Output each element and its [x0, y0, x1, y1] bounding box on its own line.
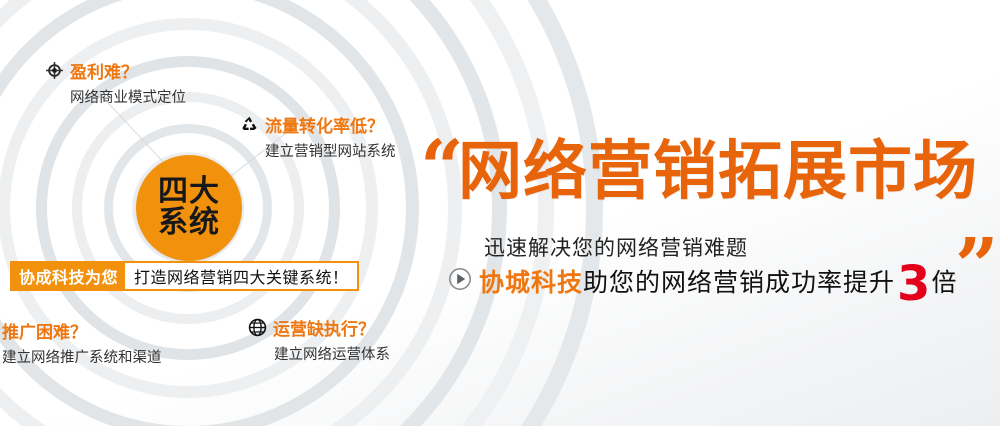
feature-title-traffic: 流量转化率低？	[265, 112, 384, 137]
center-circle-four-systems: 四大 系统	[136, 155, 242, 261]
feature-head-operations: 运营缺执行？	[248, 315, 390, 340]
slogan-strip-message: 打造网络营销四大关键系统！	[125, 263, 357, 289]
multiplier-unit: 倍	[931, 263, 957, 299]
feature-title-operations: 运营缺执行？	[273, 315, 375, 340]
play-circle-icon	[448, 267, 472, 295]
feature-head-promotion: 推广困难？	[2, 318, 162, 343]
recycle-icon	[240, 115, 259, 134]
brand-name-highlight: 协城科技	[479, 263, 583, 299]
slogan-strip-brand: 协成科技为您	[12, 263, 125, 289]
feature-item-profit: 盈利难？ 网络商业模式定位	[45, 58, 186, 107]
feature-title-promotion: 推广困难？	[2, 318, 87, 343]
feature-title-profit: 盈利难？	[70, 58, 138, 83]
center-circle-line-2: 系统	[158, 208, 220, 239]
feature-item-operations: 运营缺执行？ 建立网络运营体系	[248, 315, 390, 364]
headline-block: “ 网络营销拓展市场 „	[420, 138, 1000, 233]
globe-icon	[248, 318, 267, 337]
quote-close-mark: „	[956, 185, 1000, 261]
feature-subtitle-traffic: 建立营销型网站系统	[265, 140, 396, 161]
subheading-line-2-text: 助您的网络营销成功率提升	[583, 263, 895, 299]
headline-text: 网络营销拓展市场	[458, 140, 978, 204]
multiplier-number: 3	[897, 265, 930, 303]
feature-subtitle-operations: 建立网络运营体系	[274, 343, 390, 364]
feature-subtitle-profit: 网络商业模式定位	[70, 86, 186, 107]
feature-head-profit: 盈利难？	[45, 58, 186, 83]
subheading-line-2: 协城科技 助您的网络营销成功率提升 3 倍	[448, 262, 957, 300]
feature-item-promotion: 推广困难？ 建立网络推广系统和渠道	[2, 318, 162, 367]
center-circle-line-1: 四大	[158, 177, 220, 208]
target-icon	[45, 61, 64, 80]
feature-head-traffic: 流量转化率低？	[240, 112, 396, 137]
feature-subtitle-promotion: 建立网络推广系统和渠道	[2, 346, 162, 367]
subheading-line-1: 迅速解决您的网络营销难题	[484, 232, 748, 262]
slogan-strip: 协成科技为您 打造网络营销四大关键系统！	[10, 261, 359, 291]
feature-item-traffic: 流量转化率低？ 建立营销型网站系统	[240, 112, 396, 161]
marketing-banner: 四大 系统 盈利难？ 网络商业模式定位	[0, 0, 1000, 426]
